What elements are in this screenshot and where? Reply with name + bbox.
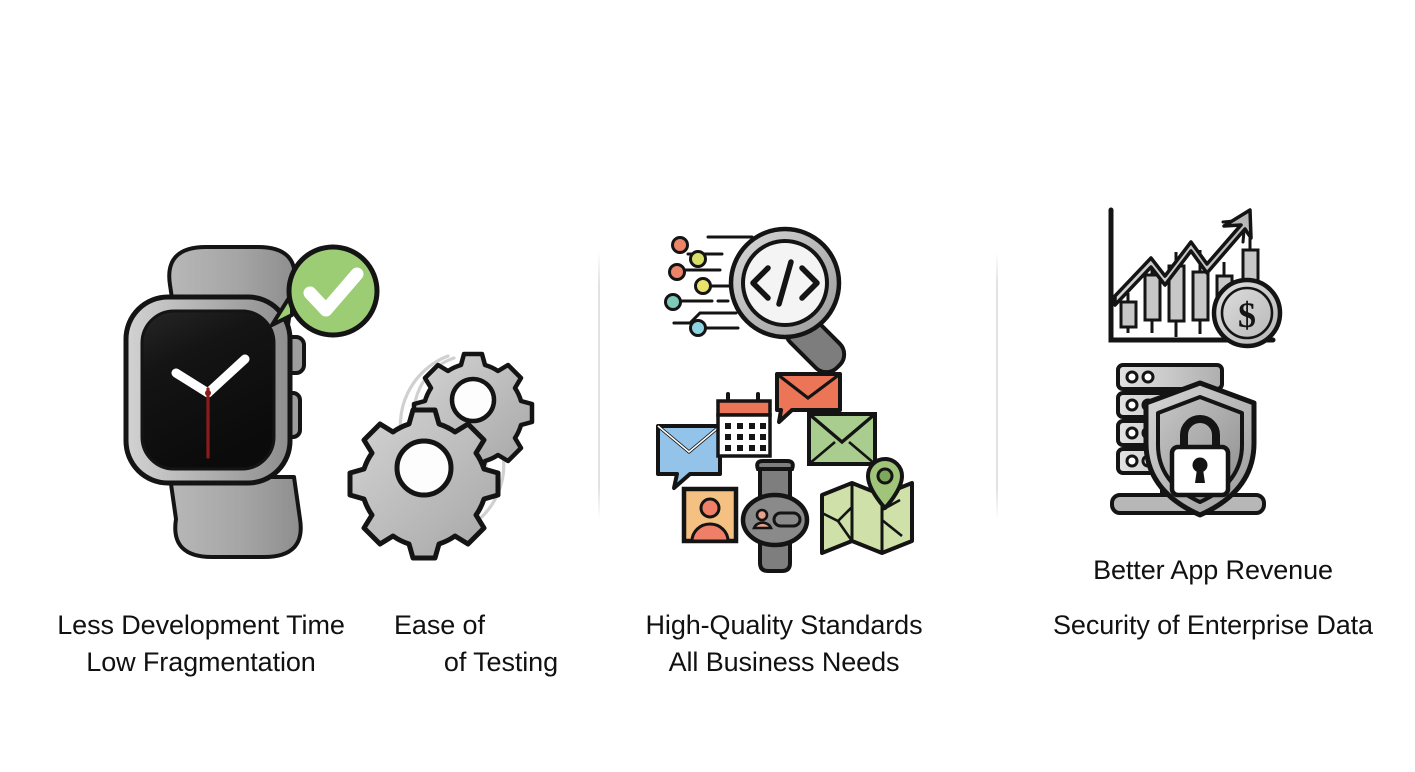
gears-icon xyxy=(360,338,545,538)
envelope-green-icon xyxy=(809,414,875,464)
caption-quality: High-Quality Standards All Business Need… xyxy=(628,607,940,681)
dollar-symbol: $ xyxy=(1238,295,1256,335)
circuit-nodes xyxy=(666,238,711,336)
code-magnifier-icon xyxy=(660,218,875,373)
caption-revenue-security: Better App Revenue Security of Enterpris… xyxy=(1023,552,1403,644)
server-shield-lock-icon xyxy=(1100,355,1285,525)
gear-large xyxy=(350,410,498,558)
caption-testing: Ease of of Testing xyxy=(394,607,558,681)
dollar-coin-icon: $ xyxy=(1214,280,1280,346)
caption-revenue-line1: Better App Revenue xyxy=(1093,555,1333,585)
caption-development-line1: Less Development Time xyxy=(57,610,345,640)
growth-chart-dollar-icon: $ xyxy=(1095,200,1290,360)
calendar-icon xyxy=(718,394,770,456)
caption-testing-line1: Ease of xyxy=(394,607,558,644)
app-icons-cluster xyxy=(650,370,922,575)
panel-divider-left xyxy=(598,252,600,520)
caption-development: Less Development Time Low Fragmentation xyxy=(38,607,364,681)
caption-development-line2: Low Fragmentation xyxy=(38,644,364,681)
mail-blue-icon xyxy=(658,426,720,488)
panel-divider-right xyxy=(996,252,998,520)
infographic-canvas: $ xyxy=(0,0,1415,772)
caption-security-line2: Security of Enterprise Data xyxy=(1023,607,1403,644)
map-pin-icon xyxy=(822,459,912,553)
watch-contacts-icon xyxy=(743,461,807,571)
caption-quality-line1: High-Quality Standards xyxy=(646,610,923,640)
caption-testing-line2: of Testing xyxy=(394,644,558,681)
contact-card-icon xyxy=(684,489,736,541)
caption-quality-line2: All Business Needs xyxy=(628,644,940,681)
